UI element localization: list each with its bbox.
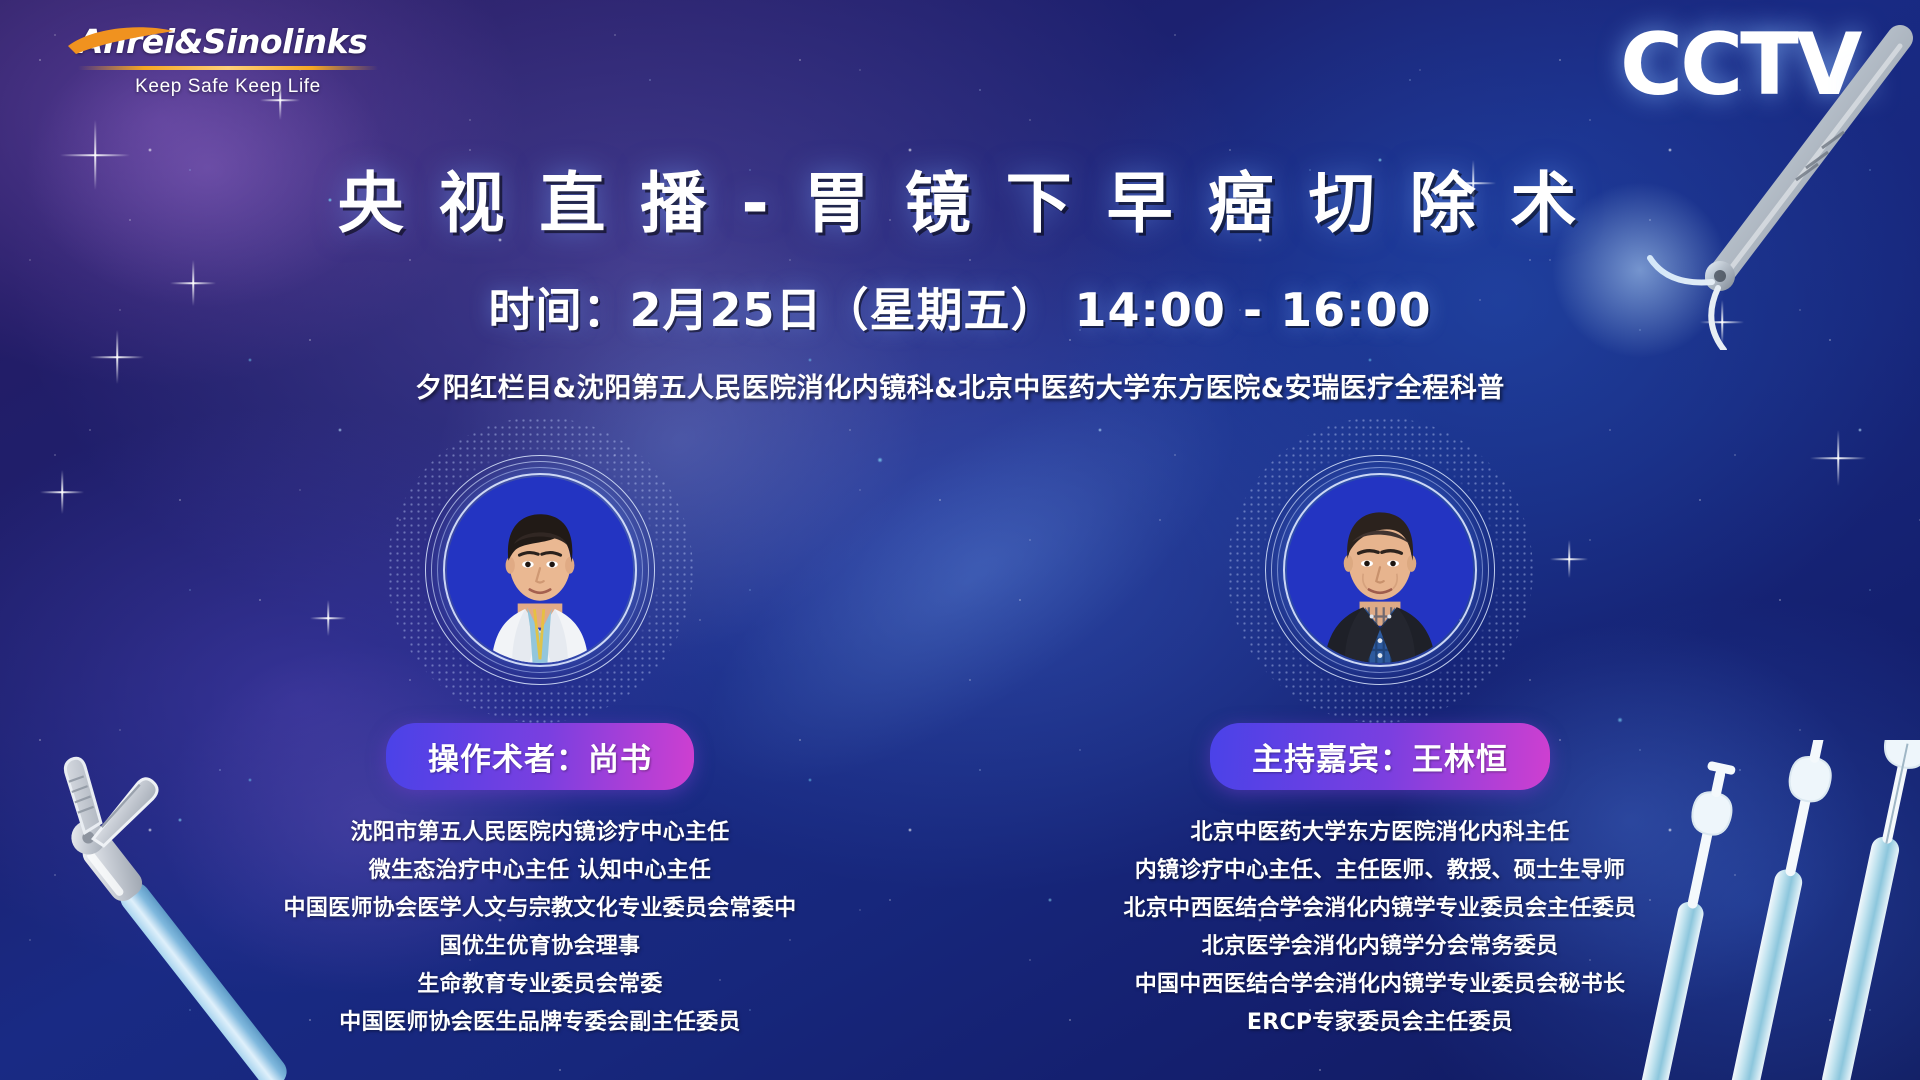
bio-line: 内镜诊疗中心主任、主任医师、教授、硕士生导师: [1124, 852, 1637, 890]
bio-line: 沈阳市第五人民医院内镜诊疗中心主任: [284, 814, 797, 852]
bio-line: 北京医学会消化内镜学分会常务委员: [1124, 928, 1637, 966]
headline-block: 央 视 直 播 - 胃 镜 下 早 癌 切 除 术 时间：2月25日（星期五） …: [0, 150, 1920, 405]
livestream-poster: Anrei&Sinolinks Keep Safe Keep Life CCTV…: [0, 0, 1920, 1080]
bio-line: 北京中西医结合学会消化内镜学专业委员会主任委员: [1124, 890, 1637, 928]
speaker-bio-left: 沈阳市第五人民医院内镜诊疗中心主任 微生态治疗中心主任 认知中心主任 中国医师协…: [284, 814, 797, 1042]
cctv-logo-dot: .: [1848, 15, 1878, 115]
bio-line: 北京中医药大学东方医院消化内科主任: [1124, 814, 1637, 852]
brand-divider: [78, 66, 378, 70]
speaker-card-left: 操作术者：尚书 沈阳市第五人民医院内镜诊疗中心主任 微生态治疗中心主任 认知中心…: [250, 455, 830, 1042]
speaker-photo-wang-linheng: [1287, 477, 1473, 663]
avatar-frame-left: [425, 455, 655, 685]
speaker-bio-right: 北京中医药大学东方医院消化内科主任 内镜诊疗中心主任、主任医师、教授、硕士生导师…: [1124, 814, 1637, 1042]
speaker-photo-shang-shu: [447, 477, 633, 663]
brand-logo: Anrei&Sinolinks Keep Safe Keep Life: [78, 20, 378, 98]
speaker-role-badge-left: 操作术者：尚书: [386, 723, 694, 790]
brand-tagline: Keep Safe Keep Life: [78, 76, 378, 98]
page-title: 央 视 直 播 - 胃 镜 下 早 癌 切 除 术: [0, 150, 1920, 246]
bio-line: 中国中西医结合学会消化内镜学专业委员会秘书长: [1124, 966, 1637, 1004]
bio-line: 生命教育专业委员会常委: [284, 966, 797, 1004]
bio-line: ERCP专家委员会主任委员: [1124, 1004, 1637, 1042]
brand-wordmark: Anrei&Sinolinks: [78, 20, 378, 64]
swoosh-icon: [66, 26, 186, 56]
cctv-logo: CCTV.: [1620, 22, 1878, 108]
bio-line: 国优生优育协会理事: [284, 928, 797, 966]
bio-line: 中国医师协会医生品牌专委会副主任委员: [284, 1004, 797, 1042]
avatar-frame-right: [1265, 455, 1495, 685]
bio-line: 中国医师协会医学人文与宗教文化专业委员会常委中: [284, 890, 797, 928]
organizers-line: 夕阳红栏目&沈阳第五人民医院消化内镜科&北京中医药大学东方医院&安瑞医疗全程科普: [0, 366, 1920, 405]
event-time: 时间：2月25日（星期五） 14:00 - 16:00: [0, 274, 1920, 340]
bio-line: 微生态治疗中心主任 认知中心主任: [284, 852, 797, 890]
cctv-logo-text: CCTV: [1620, 15, 1848, 115]
speaker-card-right: 主持嘉宾：王林恒 北京中医药大学东方医院消化内科主任 内镜诊疗中心主任、主任医师…: [1090, 455, 1670, 1042]
speaker-role-badge-right: 主持嘉宾：王林恒: [1210, 723, 1550, 790]
speakers-section: 操作术者：尚书 沈阳市第五人民医院内镜诊疗中心主任 微生态治疗中心主任 认知中心…: [0, 455, 1920, 1042]
